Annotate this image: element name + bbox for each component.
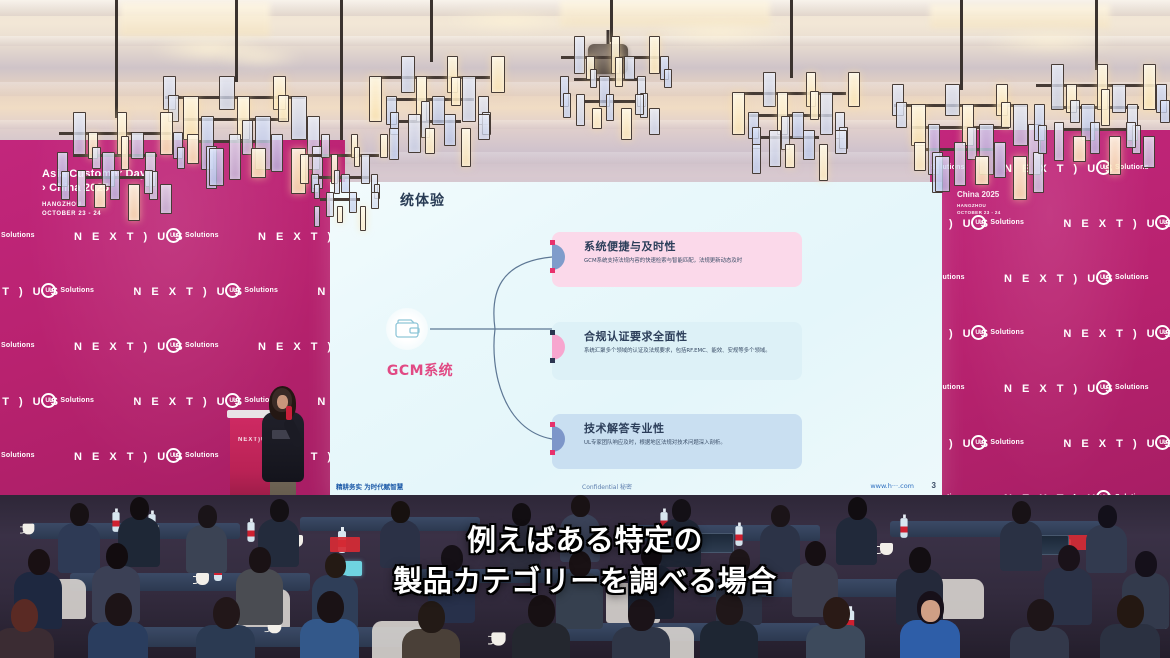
ul-solutions-wordmark: Solutions <box>185 232 219 239</box>
chandelier-lantern <box>1109 136 1122 175</box>
chandelier-arm <box>1051 106 1139 109</box>
chandelier-lantern <box>819 144 829 181</box>
chandelier-lantern <box>131 132 144 159</box>
audience-member-head <box>198 505 217 528</box>
chandelier-lantern <box>896 102 906 128</box>
chandelier-lantern <box>187 134 199 164</box>
audience-member <box>380 501 420 563</box>
ul-mark-icon <box>1096 380 1111 395</box>
audience-member-head <box>130 497 149 520</box>
card-3-body: UL专家团队响应及时，根据地区法规对技术问题深入剖析。 <box>584 438 790 448</box>
card-1-heading: 系统便捷与及时性 <box>584 238 676 254</box>
card-3-handle-bottom <box>550 450 555 455</box>
teacup <box>880 543 893 555</box>
ul-solutions-logo: Solutions <box>971 215 1024 230</box>
audience-member <box>402 601 460 658</box>
audience-member-head <box>909 547 930 573</box>
audience-member <box>0 599 54 658</box>
ul-solutions-logo: Solutions <box>166 228 219 243</box>
chandelier-lantern <box>810 91 819 119</box>
card-2-heading: 合规认证要求全面性 <box>584 328 688 344</box>
audience-member-head <box>1058 545 1080 571</box>
chandelier-lantern <box>334 170 340 194</box>
audience-member-head <box>325 553 346 578</box>
nextus-wordmark: N E X T ) U S <box>1063 438 1170 450</box>
audience-member-torso <box>88 622 148 658</box>
ul-solutions-wordmark: Solutions <box>244 287 278 294</box>
chandelier-lantern <box>935 156 949 192</box>
chandelier-lantern <box>592 108 603 129</box>
ul-solutions-logo: Solutions <box>0 228 35 243</box>
chandelier-lantern <box>478 114 491 140</box>
chandelier-lantern <box>1054 122 1064 161</box>
chandelier-rod <box>960 0 963 90</box>
ul-mark-icon <box>1155 435 1170 450</box>
microphone-icon <box>286 406 292 420</box>
audience-member-torso <box>1010 627 1069 658</box>
ul-solutions-logo: Solutions <box>0 338 35 353</box>
audience-member-head <box>105 593 132 626</box>
audience-member <box>88 593 148 658</box>
audience-member <box>196 597 255 658</box>
card-system-convenience: 系统便捷与及时性 GCM系统支持法规内容的快速检索与智能匹配，法规更新动态及时 <box>552 232 802 287</box>
table-tent-card <box>330 537 360 552</box>
chandelier-lantern <box>73 112 86 155</box>
audience-member-head <box>823 597 850 629</box>
audience-member-head <box>571 495 589 517</box>
chandelier-lantern <box>1038 125 1047 155</box>
audience-member-head <box>628 599 654 631</box>
chandelier-lantern <box>369 76 383 122</box>
audience-member-head <box>512 503 531 526</box>
audience-member <box>1100 595 1160 658</box>
card-2-handle-top <box>550 330 555 335</box>
audience-member-torso <box>402 629 460 658</box>
audience-member-head <box>70 503 89 526</box>
ul-solutions-logo: Solutions <box>1096 270 1149 285</box>
audience-member <box>806 597 865 658</box>
chandelier-lantern <box>635 94 643 115</box>
chandelier-lantern <box>229 134 241 180</box>
chandelier-lantern <box>649 108 660 135</box>
chandelier-lantern <box>1143 136 1156 168</box>
ul-solutions-wordmark: Solutions <box>990 219 1024 226</box>
chandelier-lantern <box>1070 100 1079 123</box>
ul-solutions-logo: Solutions <box>166 448 219 463</box>
audience-member <box>560 495 600 557</box>
audience-member <box>500 503 541 566</box>
slide-page-number: 3 <box>932 481 936 490</box>
event-dates-right: OCTOBER 23 - 24 <box>957 210 1001 217</box>
chandelier-lantern <box>278 95 289 122</box>
card-3-heading: 技术解答专业性 <box>584 420 665 436</box>
chandelier-lantern <box>911 104 926 146</box>
chandelier-lantern <box>563 93 571 118</box>
audience-member-head <box>11 599 38 632</box>
audience-member-head <box>729 549 750 574</box>
ul-solutions-wordmark: Solutions <box>1115 274 1149 281</box>
audience-member-torso <box>836 517 877 566</box>
chandelier-lantern <box>1112 84 1126 113</box>
chandelier-lantern <box>954 142 965 186</box>
chandelier-lantern <box>590 69 598 88</box>
audience-member <box>612 599 670 658</box>
chandelier-lantern <box>389 128 399 160</box>
chandelier-rod <box>790 0 793 78</box>
audience-member <box>512 595 570 658</box>
ul-solutions-logo: Solutions <box>225 283 278 298</box>
audience-member-head <box>418 601 444 633</box>
audience-member-torso <box>900 620 960 658</box>
chandelier-lantern <box>160 112 173 155</box>
chandelier-lantern <box>408 114 421 153</box>
chandelier-lantern <box>61 171 70 199</box>
card-1-handle-top <box>550 240 555 245</box>
audience-member-head <box>672 499 691 522</box>
audience-member <box>186 505 227 568</box>
audience-member-head <box>106 543 128 569</box>
audience-member-torso <box>186 525 227 574</box>
chandelier-lantern <box>314 184 320 199</box>
chandelier-lantern <box>380 134 389 158</box>
chandelier-lantern <box>1090 122 1100 154</box>
gcm-node-label: GCM系统 <box>370 360 470 380</box>
audience-member-head <box>249 547 270 573</box>
audience-member <box>300 591 359 658</box>
chandelier-lantern <box>945 84 960 116</box>
chandelier-lantern <box>128 184 140 221</box>
ul-mark-icon <box>1155 215 1170 230</box>
chandelier-lantern <box>1013 156 1027 200</box>
audience-member-head <box>848 497 867 520</box>
chandelier-lantern <box>732 92 745 135</box>
teacup <box>23 524 35 535</box>
gcm-node-icon-wrap <box>386 308 428 350</box>
chandelier-arm <box>386 98 474 101</box>
chandelier-lantern <box>914 142 925 171</box>
chandelier-lantern <box>461 128 471 167</box>
chandelier-lantern <box>361 154 370 184</box>
nextus-wordmark: N E X T ) U S <box>1063 218 1170 230</box>
ul-solutions-logo: Solutions <box>41 393 94 408</box>
chandelier-lantern <box>300 154 309 184</box>
chandelier-lantern <box>444 114 457 146</box>
audience-area <box>0 495 1170 658</box>
audience-member-head <box>317 591 344 623</box>
ul-solutions-logo: Solutions <box>41 283 94 298</box>
audience-member-torso <box>700 621 758 658</box>
chandelier-lantern <box>803 130 815 160</box>
card-compliance-coverage: 合规认证要求全面性 系统汇聚多个领域的认证及法规要求，包括RF.EMC、能效、安… <box>552 322 802 380</box>
audience-member-torso <box>0 628 54 658</box>
chandelier-lantern <box>624 56 635 80</box>
chandelier-lantern <box>574 36 585 74</box>
chandelier-lantern <box>621 108 632 140</box>
chandelier-lantern <box>314 206 321 227</box>
chandelier-lantern <box>785 144 795 168</box>
ul-solutions-wordmark: Solutions <box>1115 384 1149 391</box>
ul-solutions-wordmark: Solutions <box>990 329 1024 336</box>
event-headline-right: China 2025 HANGZHOU OCTOBER 23 - 24 <box>957 190 1001 217</box>
card-2-handle-bottom <box>550 358 555 363</box>
chandelier-lantern <box>326 192 334 217</box>
audience-member-torso <box>612 627 670 658</box>
chandelier-lantern <box>615 57 623 87</box>
audience-member-head <box>716 593 742 625</box>
ul-mark-icon <box>166 338 181 353</box>
chandelier-lantern <box>576 94 584 126</box>
chandelier-lantern <box>1033 152 1043 193</box>
audience-member-head <box>1012 501 1031 524</box>
card-1-body: GCM系统支持法规内容的快速检索与智能匹配，法规更新动态及时 <box>584 256 790 266</box>
chandelier-lantern <box>271 134 283 172</box>
chandelier-lantern <box>1073 136 1086 162</box>
chandelier-lantern <box>110 170 120 200</box>
audience-member-head <box>213 597 240 629</box>
water-bottle <box>735 526 742 546</box>
chandelier-rod <box>115 0 118 118</box>
ul-mark-icon <box>225 393 240 408</box>
teacup <box>196 573 209 585</box>
slide-footer-center: Confidential 秘密 <box>582 482 632 491</box>
chandelier-lantern <box>219 76 235 110</box>
audience-member-head <box>28 549 50 575</box>
ul-mark-icon <box>225 283 240 298</box>
ul-mark-icon <box>1096 270 1111 285</box>
ul-mark-icon <box>1155 325 1170 340</box>
chandelier-rod <box>235 0 238 82</box>
audience-member-head <box>391 501 409 523</box>
ul-solutions-logo: Solutions <box>971 435 1024 450</box>
ul-solutions-wordmark: Solutions <box>185 452 219 459</box>
card-technical-expertise: 技术解答专业性 UL专家团队响应及时，根据地区法规对技术问题深入剖析。 <box>552 414 802 469</box>
chandelier-lantern <box>848 72 861 107</box>
audience-member-head <box>441 545 462 571</box>
chandelier-lantern <box>1051 64 1065 110</box>
audience-member-head <box>1098 505 1117 528</box>
chandelier-lantern <box>664 69 672 88</box>
audience-member-head <box>805 541 826 566</box>
chandelier-lantern <box>994 142 1005 178</box>
audience-member-head <box>771 505 789 527</box>
ul-solutions-wordmark: Solutions <box>1 342 35 349</box>
chandelier-lantern <box>763 72 776 107</box>
audience-member-head <box>641 543 662 568</box>
audience-member-torso <box>196 625 255 658</box>
chandelier-lantern <box>769 130 781 167</box>
audience-member-torso <box>300 619 359 658</box>
ul-solutions-logo: Solutions <box>166 338 219 353</box>
ul-mark-icon <box>971 215 986 230</box>
audience-member-torso <box>380 520 420 568</box>
chandelier-lantern <box>606 94 614 121</box>
teacup <box>491 632 505 645</box>
chandelier-lantern <box>425 128 435 154</box>
chandelier-lantern <box>92 147 101 169</box>
chandelier-lantern <box>1013 104 1028 146</box>
ul-solutions-logo: Solutions <box>1155 325 1170 340</box>
card-2-body: 系统汇聚多个领域的认证及法规要求，包括RF.EMC、能效、安规等多个领域。 <box>584 346 790 356</box>
audience-member-head <box>270 499 289 522</box>
chandelier-lantern <box>251 148 266 178</box>
projection-screen: 统体验 GCM系统 系统便捷与及时性 GCM系统支持法规内容的快速检索与智能匹配… <box>330 182 942 502</box>
chandelier-lantern <box>209 148 224 186</box>
wallet-card-icon <box>386 308 428 350</box>
chandelier-lantern <box>341 174 350 193</box>
audience-member-torso <box>1100 624 1160 658</box>
water-bottle <box>247 522 254 542</box>
screenshot-root: SolutionsN E X T ) U SSolutionsN E X T )… <box>0 0 1170 658</box>
audience-member-torso <box>806 625 865 658</box>
chandelier-lantern <box>94 184 106 208</box>
audience-member <box>836 497 877 560</box>
audience-member-head <box>528 595 554 627</box>
chandelier-lantern <box>360 206 367 231</box>
ul-solutions-wordmark: Solutions <box>60 397 94 404</box>
chandelier-lantern <box>1101 89 1110 126</box>
ul-solutions-logo: Solutions <box>0 448 35 463</box>
chandelier-lantern <box>491 56 505 93</box>
chandelier-lantern <box>354 147 360 166</box>
audience-member-torso <box>1000 521 1042 571</box>
chandelier-lantern <box>1126 122 1136 148</box>
chandelier-lantern <box>1143 64 1157 110</box>
audience-member-torso <box>500 523 541 572</box>
event-city-right: HANGZHOU <box>957 203 1001 210</box>
audience-member-head <box>1027 599 1054 631</box>
audience-member-head <box>1135 551 1156 577</box>
chandelier-lantern <box>349 192 357 213</box>
chandelier-arm <box>574 78 647 81</box>
chandelier-lantern <box>160 184 172 214</box>
chandelier-rod <box>430 0 433 62</box>
ul-solutions-wordmark: Solutions <box>185 342 219 349</box>
ul-solutions-logo: Solutions <box>1096 160 1149 175</box>
chandelier-lantern <box>371 192 379 209</box>
ul-solutions-wordmark: Solutions <box>990 439 1024 446</box>
chandelier-lantern <box>462 76 476 122</box>
chandelier-lantern <box>321 134 330 158</box>
ul-mark-icon <box>166 228 181 243</box>
ul-solutions-logo: Solutions <box>1096 380 1149 395</box>
chandelier-lantern <box>451 77 460 107</box>
chandelier-lantern <box>1001 102 1011 128</box>
ul-solutions-wordmark: Solutions <box>60 287 94 294</box>
chandelier-lantern <box>1160 100 1169 123</box>
chandelier-lantern <box>291 96 307 140</box>
audience-member-head <box>569 551 590 577</box>
event-title-line2-right: China 2025 <box>957 190 1001 200</box>
chandelier-lantern <box>835 130 847 154</box>
ul-mark-icon <box>41 283 56 298</box>
ul-solutions-logo: Solutions <box>971 325 1024 340</box>
chandelier-lantern <box>77 170 87 207</box>
ul-mark-icon <box>971 435 986 450</box>
audience-member-face <box>921 600 941 622</box>
slide-title: 统体验 <box>400 190 445 210</box>
chandelier-lantern <box>975 156 989 185</box>
audience-member-torso <box>512 623 570 658</box>
chandelier-lantern <box>121 136 130 171</box>
card-3-handle-top <box>550 422 555 427</box>
chandelier-lantern <box>649 36 660 74</box>
chandelier-rod <box>340 0 343 140</box>
ul-solutions-logo: Solutions <box>1155 435 1170 450</box>
chandelier-lantern <box>144 170 154 194</box>
audience-member-head <box>1117 595 1144 628</box>
card-1-handle-bottom <box>550 268 555 273</box>
chandelier-lantern <box>177 147 186 169</box>
slide-footer-url: www.h···.com <box>870 482 914 490</box>
audience-member <box>700 593 758 658</box>
audience-member <box>1000 501 1042 565</box>
ul-mark-icon <box>166 448 181 463</box>
chandelier-rod <box>1095 0 1098 70</box>
audience-member <box>1010 599 1069 658</box>
ul-solutions-wordmark: Solutions <box>1 232 35 239</box>
ul-mark-icon <box>971 325 986 340</box>
ul-mark-icon <box>41 393 56 408</box>
slide-footer-left: 精耕务实 为时代赋智慧 <box>336 481 403 491</box>
water-bottle <box>900 518 907 538</box>
ul-solutions-logo: Solutions <box>1155 215 1170 230</box>
chandelier-lantern <box>820 92 833 135</box>
ul-solutions-wordmark: Solutions <box>1 452 35 459</box>
nextus-wordmark: N E X T ) U S <box>1063 328 1170 340</box>
chandelier-lantern <box>401 56 415 93</box>
chandelier-lantern <box>337 206 344 223</box>
audience-member <box>900 591 960 658</box>
chandelier-lantern <box>752 144 762 174</box>
